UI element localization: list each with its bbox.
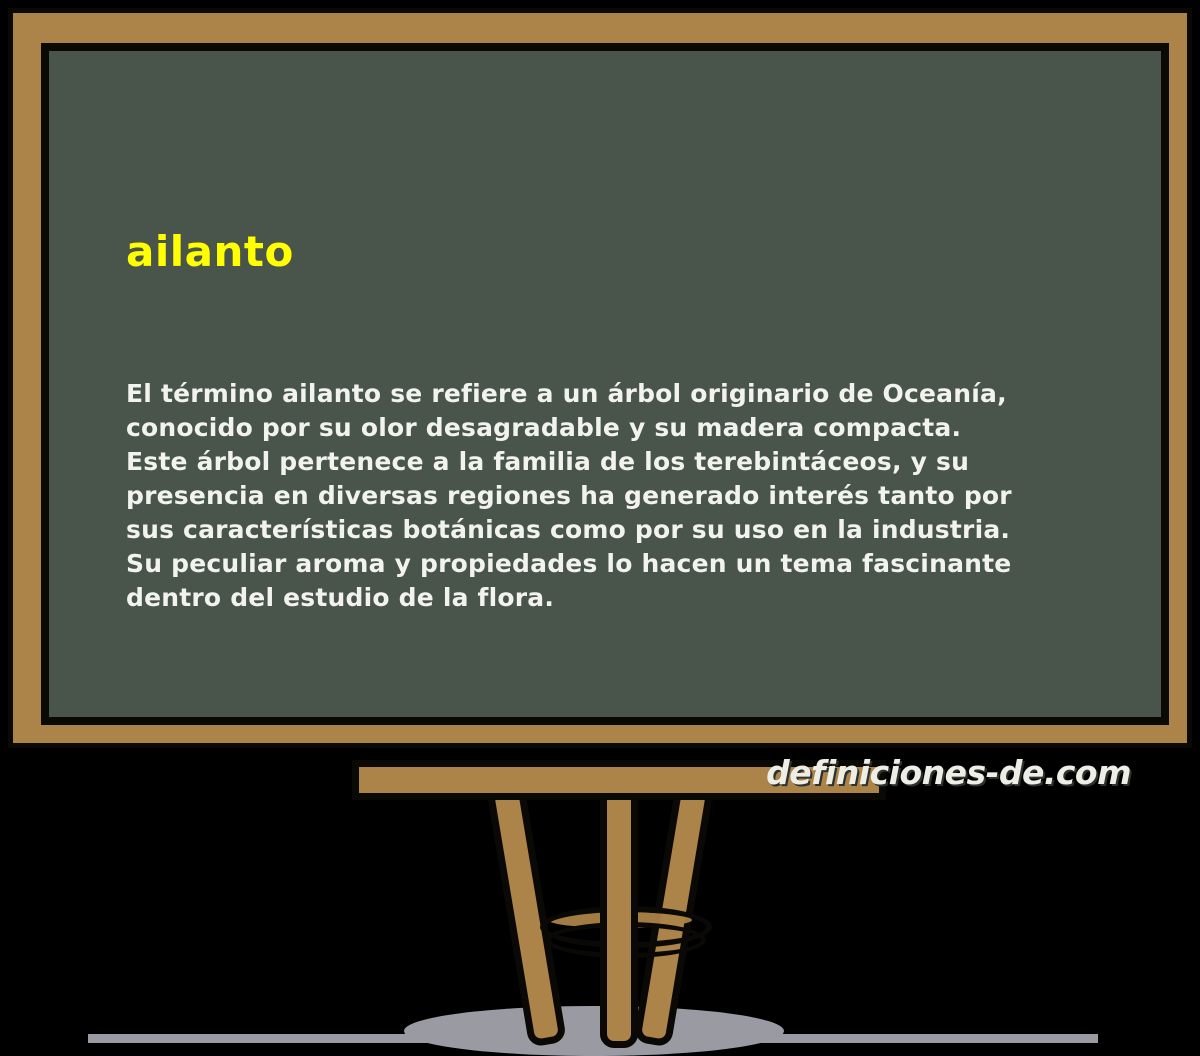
definition-body-line: dentro del estudio de la flora. [126, 581, 1186, 615]
chalkboard-definition-image: ailanto El término ailanto se refiere a … [0, 0, 1200, 1056]
easel-leg-center [600, 786, 638, 1048]
floor-shadow-line [88, 1034, 1098, 1043]
definition-body-line: El término ailanto se refiere a un árbol… [126, 377, 1186, 411]
definition-term-title: ailanto [126, 231, 294, 273]
definition-body-line: Su peculiar aroma y propiedades lo hacen… [126, 547, 1186, 581]
definition-body-text: El término ailanto se refiere a un árbol… [126, 377, 1186, 615]
definition-body-line: conocido por su olor desagradable y su m… [126, 411, 1186, 445]
chalkboard-surface: ailanto El término ailanto se refiere a … [41, 43, 1169, 725]
floor-shadow-blob [404, 1006, 784, 1056]
chalkboard-frame: ailanto El término ailanto se refiere a … [8, 8, 1192, 748]
definition-body-line: presencia en diversas regiones ha genera… [126, 479, 1186, 513]
site-watermark: definiciones-de.com [766, 753, 1131, 792]
definition-body-line: sus características botánicas como por s… [126, 513, 1186, 547]
definition-body-line: Este árbol pertenece a la familia de los… [126, 445, 1186, 479]
